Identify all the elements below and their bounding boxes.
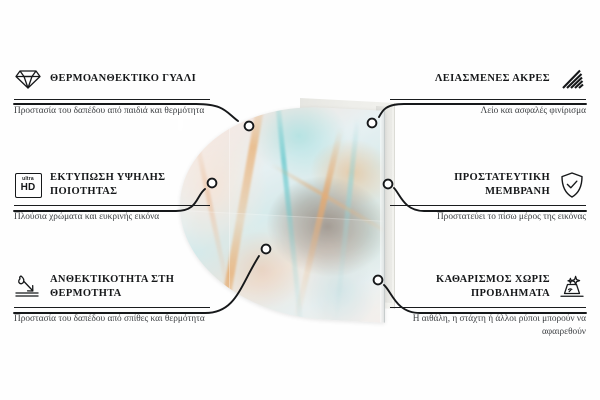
feature-divider [390,307,586,308]
feature-divider [390,205,586,206]
feature-divider [14,99,210,100]
feature-description: Πλούσια χρώματα και ευκρινής εικόνα [14,211,210,224]
feature-title: ΑΝΘΕΚΤΙΚΟΤΗΤΑ ΣΤΗ ΘΕΡΜΟΤΗΤΑ [50,273,210,301]
feature-header: ΘΕΡΜΟΑΝΘΕΚΤΙΚΟ ΓΥΑΛΙ [14,62,210,96]
feature-divider [14,205,210,206]
feature-title: ΕΚΤΥΠΩΣΗ ΥΨΗΛΗΣ ΠΟΙΟΤΗΤΑΣ [50,171,210,199]
product-image [180,100,395,312]
feature-description: Η αιθάλη, η στάχτη ή άλλοι ρύποι μπορούν… [390,313,586,339]
feature-title: ΘΕΡΜΟΑΝΘΕΚΤΙΚΟ ΓΥΑΛΙ [50,72,196,86]
feature-header: ΑΝΘΕΚΤΙΚΟΤΗΤΑ ΣΤΗ ΘΕΡΜΟΤΗΤΑ [14,270,210,304]
feature-easy-cleaning: ΚΑΘΑΡΙΣΜΟΣ ΧΩΡΙΣ ΠΡΟΒΛΗΜΑΤΑ Η αιθάλη, η … [390,270,586,340]
feature-divider [14,307,210,308]
feature-polished-edges: ΛΕΙΑΣΜΕΝΕΣ ΑΚΡΕΣ Λείο και ασφαλές φινίρι… [390,62,586,118]
feature-title: ΠΡΟΣΤΑΤΕΥΤΙΚΗ ΜΕΜΒΡΑΝΗ [390,171,550,199]
feature-protective-membrane: ΠΡΟΣΤΑΤΕΥΤΙΚΗ ΜΕΜΒΡΑΝΗ Προστατεύει το πί… [390,168,586,224]
ultra-hd-badge: ultra HD [15,173,42,198]
feature-title: ΛΕΙΑΣΜΕΝΕΣ ΑΚΡΕΣ [435,72,550,86]
feature-heat-resistant-glass: ΘΕΡΜΟΑΝΘΕΚΤΙΚΟ ΓΥΑΛΙ Προστασία του δαπέδ… [14,62,210,118]
sponge-sparkle-icon [558,273,586,301]
diamond-icon [14,65,42,93]
printed-glass-panel [180,100,385,323]
feature-header: ΠΡΟΣΤΑΤΕΥΤΙΚΗ ΜΕΜΒΡΑΝΗ [390,168,586,202]
ultra-hd-badge-main: HD [21,183,36,193]
feature-header: ΚΑΘΑΡΙΣΜΟΣ ΧΩΡΙΣ ΠΡΟΒΛΗΜΑΤΑ [390,270,586,304]
infographic-canvas: ΘΕΡΜΟΑΝΘΕΚΤΙΚΟ ΓΥΑΛΙ Προστασία του δαπέδ… [0,0,600,400]
feature-description: Προστασία του δαπέδου από παιδιά και θερ… [14,105,210,118]
feature-high-quality-print: ultra HD ΕΚΤΥΠΩΣΗ ΥΨΗΛΗΣ ΠΟΙΟΤΗΤΑΣ Πλούσ… [14,168,210,224]
feature-description: Προστατεύει το πίσω μέρος της εικόνας [390,211,586,224]
feature-description: Λείο και ασφαλές φινίρισμα [390,105,586,118]
shield-check-icon [558,171,586,199]
panel-right-edge [380,110,385,322]
feature-header: ultra HD ΕΚΤΥΠΩΣΗ ΥΨΗΛΗΣ ΠΟΙΟΤΗΤΑΣ [14,168,210,202]
flame-deflect-icon [14,273,42,301]
feature-description: Προστασία του δαπέδου από σπίθες και θερ… [14,313,210,326]
ultra-hd-icon: ultra HD [14,171,42,199]
glass-sheen [180,100,385,323]
feature-heat-durability: ΑΝΘΕΚΤΙΚΟΤΗΤΑ ΣΤΗ ΘΕΡΜΟΤΗΤΑ Προστασία το… [14,270,210,326]
feature-header: ΛΕΙΑΣΜΕΝΕΣ ΑΚΡΕΣ [390,62,586,96]
polished-edge-icon [558,65,586,93]
feature-divider [390,99,586,100]
feature-title: ΚΑΘΑΡΙΣΜΟΣ ΧΩΡΙΣ ΠΡΟΒΛΗΜΑΤΑ [390,273,550,301]
